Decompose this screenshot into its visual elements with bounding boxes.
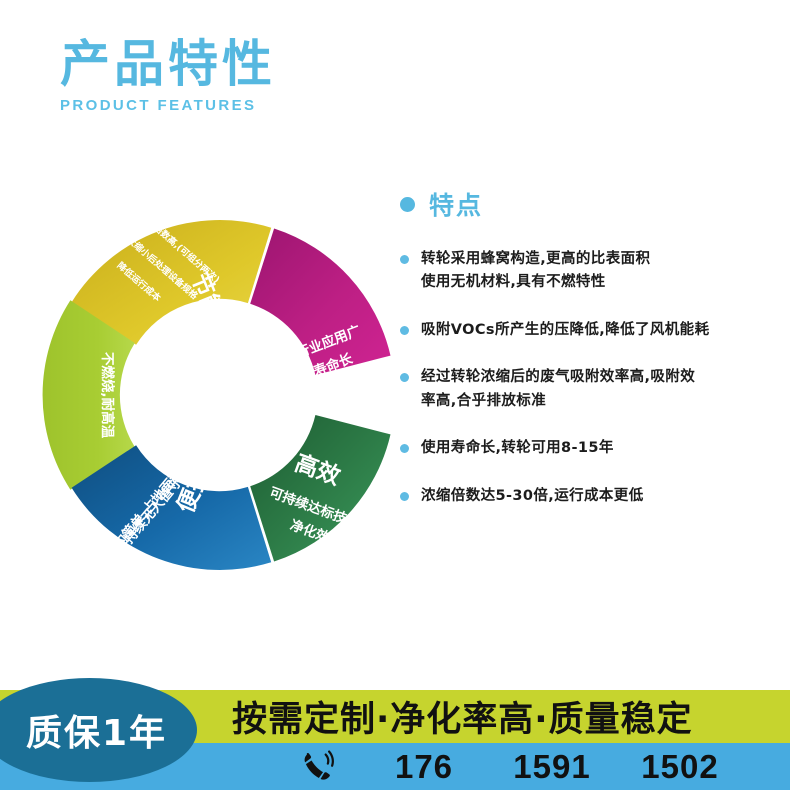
- page-title-en: PRODUCT FEATURES: [60, 97, 276, 114]
- donut-svg: 行业应用广 使用寿命长 应用 浓缩倍数高,(可组分两次) 大大缩小后处理设备规格…: [25, 150, 415, 640]
- bottom-banner: 按需定制·净化率高·质量稳定 176 1591 1502 质保1年: [0, 690, 790, 790]
- list-item[interactable]: 转轮采用蜂窝构造,更高的比表面积 使用无机材料,具有不燃特性: [400, 248, 770, 295]
- features-list: 特点 转轮采用蜂窝构造,更高的比表面积 使用无机材料,具有不燃特性 吸附VOCs…: [400, 186, 770, 532]
- banner-slogan: 按需定制·净化率高·质量稳定: [232, 689, 752, 744]
- donut-segment-application[interactable]: 行业应用广 使用寿命长 应用: [250, 229, 390, 423]
- list-item-line: 率高,合乎排放标准: [421, 390, 695, 413]
- list-item-line: 经过转轮浓缩后的废气吸附效率高,吸附效: [421, 366, 695, 389]
- list-item-line: 使用寿命长,转轮可用8-15年: [421, 437, 614, 460]
- list-item-line: 转轮采用蜂窝构造,更高的比表面积: [421, 248, 650, 271]
- segment-safety-title: 安全: [141, 372, 168, 419]
- page-header: 产品特性 PRODUCT FEATURES: [60, 38, 276, 114]
- bullet-dot-icon: [400, 492, 409, 501]
- features-heading-label: 特点: [429, 186, 483, 222]
- product-features-page: 产品特性 PRODUCT FEATURES: [0, 0, 790, 790]
- list-item[interactable]: 使用寿命长,转轮可用8-15年: [400, 437, 770, 460]
- donut-segment-safety[interactable]: 不燃烧,耐高温 安全: [43, 300, 168, 489]
- list-item[interactable]: 浓缩倍数达5-30倍,运行成本更低: [400, 485, 770, 508]
- phone-number-part-2: 1591: [488, 748, 616, 786]
- bullet-dot-icon: [400, 444, 409, 453]
- features-heading: 特点: [400, 186, 770, 222]
- donut-segment-efficiency[interactable]: 高效 可持续达标技术 净化效率高: [250, 415, 390, 562]
- bullet-dot-icon: [400, 197, 415, 212]
- phone-number-part-3: 1502: [616, 748, 744, 786]
- list-item-text: 转轮采用蜂窝构造,更高的比表面积 使用无机材料,具有不燃特性: [421, 248, 650, 295]
- bullet-dot-icon: [400, 373, 409, 382]
- phone-number-part-1: 176: [360, 748, 488, 786]
- phone-handset-icon: [300, 749, 342, 785]
- segment-safety-line-0: 不燃烧,耐高温: [99, 352, 116, 439]
- list-item-text: 吸附VOCs所产生的压降低,降低了风机能耗: [421, 319, 709, 342]
- guarantee-badge-label: 质保1年: [12, 704, 167, 756]
- bullet-dot-icon: [400, 326, 409, 335]
- bullet-dot-icon: [400, 255, 409, 264]
- list-item-text: 经过转轮浓缩后的废气吸附效率高,吸附效 率高,合乎排放标准: [421, 366, 695, 413]
- page-title-cn: 产品特性: [60, 38, 276, 91]
- features-donut-diagram: 行业应用广 使用寿命长 应用 浓缩倍数高,(可组分两次) 大大缩小后处理设备规格…: [25, 150, 415, 640]
- list-item-line: 使用无机材料,具有不燃特性: [421, 271, 650, 294]
- list-item[interactable]: 吸附VOCs所产生的压降低,降低了风机能耗: [400, 319, 770, 342]
- list-item[interactable]: 经过转轮浓缩后的废气吸附效率高,吸附效 率高,合乎排放标准: [400, 366, 770, 413]
- list-item-line: 吸附VOCs所产生的压降低,降低了风机能耗: [421, 319, 709, 342]
- list-item-text: 使用寿命长,转轮可用8-15年: [421, 437, 614, 460]
- banner-phone-row[interactable]: 176 1591 1502: [300, 743, 770, 790]
- list-item-line: 浓缩倍数达5-30倍,运行成本更低: [421, 485, 644, 508]
- list-item-text: 浓缩倍数达5-30倍,运行成本更低: [421, 485, 644, 508]
